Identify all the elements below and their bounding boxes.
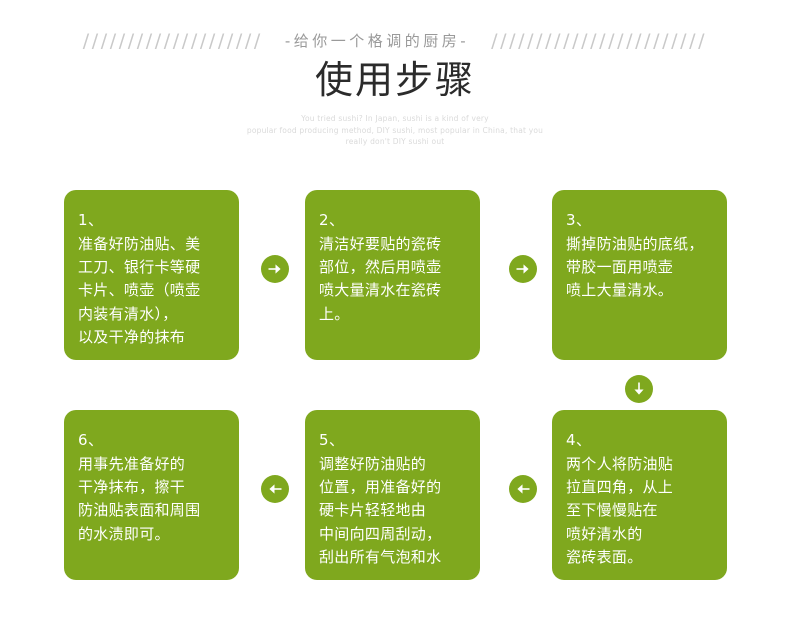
decorative-slashes-left: //////////////////// xyxy=(83,32,263,51)
step-card-3: 3、 撕掉防油贴的底纸， 带胶一面用喷壶 喷上大量清水。 xyxy=(552,190,727,360)
page-title: 使用步骤 xyxy=(0,60,790,102)
arrow-left-icon-1 xyxy=(261,475,289,503)
step-card-5: 5、 调整好防油贴的 位置，用准备好的 硬卡片轻轻地由 中间向四周刮动， 刮出所… xyxy=(305,410,480,580)
step-text-5: 调整好防油贴的 位置，用准备好的 硬卡片轻轻地由 中间向四周刮动， 刮出所有气泡… xyxy=(319,453,466,569)
page-header: //////////////////// -给你一个格调的厨房- ///////… xyxy=(0,0,790,160)
step-card-4: 4、 两个人将防油贴 拉直四角，从上 至下慢慢贴在 喷好清水的 瓷砖表面。 xyxy=(552,410,727,580)
step-text-4: 两个人将防油贴 拉直四角，从上 至下慢慢贴在 喷好清水的 瓷砖表面。 xyxy=(566,453,713,569)
arrow-right-icon-2 xyxy=(509,255,537,283)
arrow-left-icon-2 xyxy=(509,475,537,503)
step-number-5: 5、 xyxy=(319,430,466,452)
steps-row-top: 1、 准备好防油贴、美 工刀、银行卡等硬 卡片、喷壶（喷壶 内装有清水）， 以及… xyxy=(0,190,790,380)
page-tagline: -给你一个格调的厨房- xyxy=(285,34,469,49)
step-number-2: 2、 xyxy=(319,210,466,232)
step-text-6: 用事先准备好的 干净抹布，擦干 防油贴表面和周围 的水渍即可。 xyxy=(78,453,225,546)
subtitle-english: You tried sushi? In Japan, sushi is a ki… xyxy=(0,113,790,148)
tagline-row: //////////////////// -给你一个格调的厨房- ///////… xyxy=(0,32,790,51)
step-number-6: 6、 xyxy=(78,430,225,452)
step-text-3: 撕掉防油贴的底纸， 带胶一面用喷壶 喷上大量清水。 xyxy=(566,233,713,303)
step-number-3: 3、 xyxy=(566,210,713,232)
subtitle-english-line-2: popular food producing method, DIY sushi… xyxy=(0,125,790,137)
steps-row-bottom: 6、 用事先准备好的 干净抹布，擦干 防油贴表面和周围 的水渍即可。 5、 调整… xyxy=(0,410,790,600)
step-card-1: 1、 准备好防油贴、美 工刀、银行卡等硬 卡片、喷壶（喷壶 内装有清水）， 以及… xyxy=(64,190,239,360)
arrow-down-icon-1 xyxy=(625,375,653,403)
step-card-6: 6、 用事先准备好的 干净抹布，擦干 防油贴表面和周围 的水渍即可。 xyxy=(64,410,239,580)
arrow-right-icon-1 xyxy=(261,255,289,283)
subtitle-english-line-1: You tried sushi? In Japan, sushi is a ki… xyxy=(0,113,790,125)
subtitle-english-line-3: really don't DIY sushi out xyxy=(0,136,790,148)
step-card-2: 2、 清洁好要贴的瓷砖 部位，然后用喷壶 喷大量清水在瓷砖 上。 xyxy=(305,190,480,360)
step-number-4: 4、 xyxy=(566,430,713,452)
steps-flow: 1、 准备好防油贴、美 工刀、银行卡等硬 卡片、喷壶（喷壶 内装有清水）， 以及… xyxy=(0,190,790,600)
step-text-2: 清洁好要贴的瓷砖 部位，然后用喷壶 喷大量清水在瓷砖 上。 xyxy=(319,233,466,326)
decorative-slashes-right: //////////////////////// xyxy=(491,32,707,51)
step-number-1: 1、 xyxy=(78,210,225,232)
step-text-1: 准备好防油贴、美 工刀、银行卡等硬 卡片、喷壶（喷壶 内装有清水）， 以及干净的… xyxy=(78,233,225,349)
